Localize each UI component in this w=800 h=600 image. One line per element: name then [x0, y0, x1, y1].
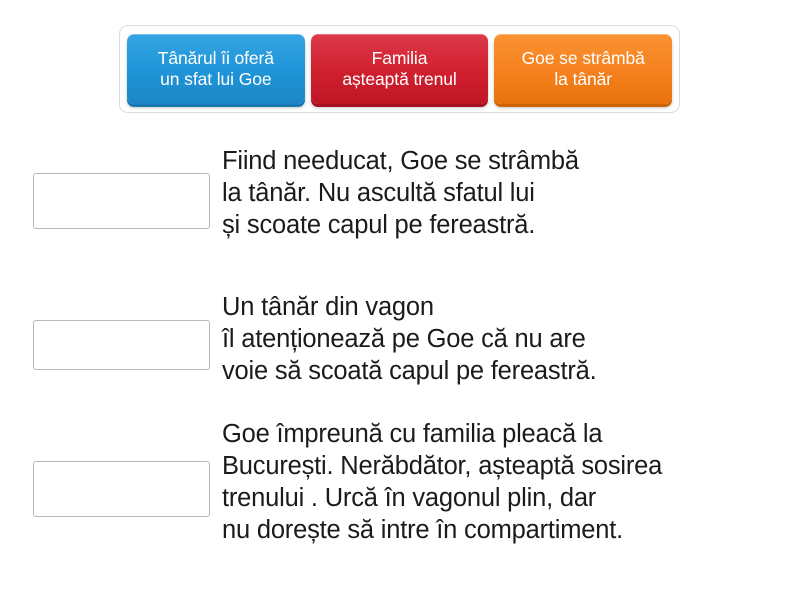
tile-bank: Tânărul îi oferă un sfat lui Goe Familia… [119, 25, 680, 113]
row-text-2: Un tânăr din vagon îl atenționează pe Go… [222, 291, 597, 387]
draggable-tile-goe[interactable]: Goe se strâmbă la tânăr [494, 34, 672, 104]
draggable-tile-tanarul[interactable]: Tânărul îi oferă un sfat lui Goe [127, 34, 305, 104]
tile-label-line2: așteaptă trenul [342, 69, 456, 90]
activity-page: Tânărul îi oferă un sfat lui Goe Familia… [0, 0, 800, 600]
tile-label-line1: Familia [372, 48, 428, 69]
draggable-tile-familia[interactable]: Familia așteaptă trenul [311, 34, 489, 104]
tile-label-line1: Goe se strâmbă [522, 48, 645, 69]
tile-label-line2: la tânăr [554, 69, 612, 90]
tile-label-line1: Tânărul îi oferă [158, 48, 274, 69]
row-text-1: Fiind needucat, Goe se strâmbă la tânăr.… [222, 145, 579, 241]
drop-slot-3[interactable] [33, 461, 210, 517]
drop-slot-1[interactable] [33, 173, 210, 229]
drop-slot-2[interactable] [33, 320, 210, 370]
row-text-3: Goe împreună cu familia pleacă la Bucure… [222, 418, 662, 546]
tile-label-line2: un sfat lui Goe [160, 69, 271, 90]
